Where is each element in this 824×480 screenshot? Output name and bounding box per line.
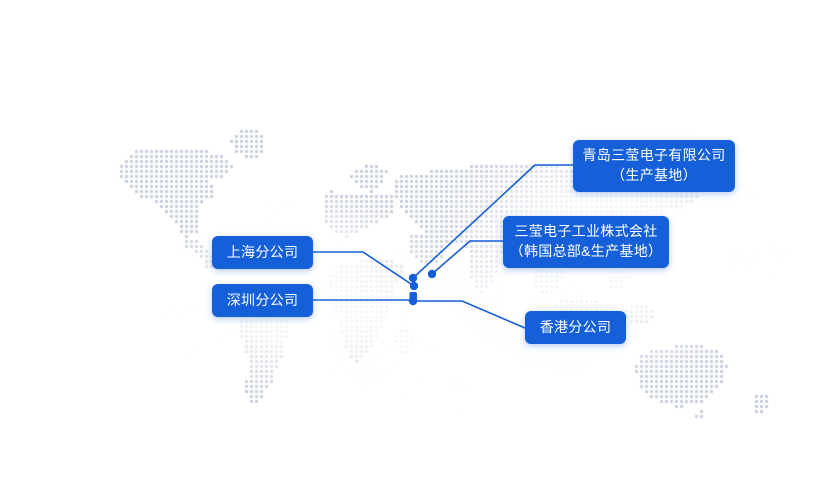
label-korea-hq[interactable]: 三莹电子工业株式会社 （韩国总部&生产基地） — [503, 216, 669, 268]
label-korea-line2: （韩国总部&生产基地） — [510, 242, 663, 262]
label-qingdao[interactable]: 青岛三莹电子有限公司 （生产基地） — [573, 140, 735, 192]
dotted-world-map — [0, 0, 824, 480]
label-shenzhen[interactable]: 深圳分公司 — [212, 284, 313, 317]
label-hongkong-line1: 香港分公司 — [540, 318, 612, 338]
label-korea-line1: 三莹电子工业株式会社 — [515, 222, 658, 242]
label-shanghai[interactable]: 上海分公司 — [212, 236, 313, 269]
label-shanghai-line1: 上海分公司 — [227, 243, 299, 263]
label-shenzhen-line1: 深圳分公司 — [227, 291, 299, 311]
label-qingdao-line1: 青岛三莹电子有限公司 — [583, 146, 726, 166]
map-dot-canvas — [0, 0, 824, 480]
label-hongkong[interactable]: 香港分公司 — [525, 311, 626, 344]
world-location-map: 青岛三莹电子有限公司 （生产基地） 三莹电子工业株式会社 （韩国总部&生产基地）… — [0, 0, 824, 480]
label-qingdao-line2: （生产基地） — [611, 166, 697, 186]
